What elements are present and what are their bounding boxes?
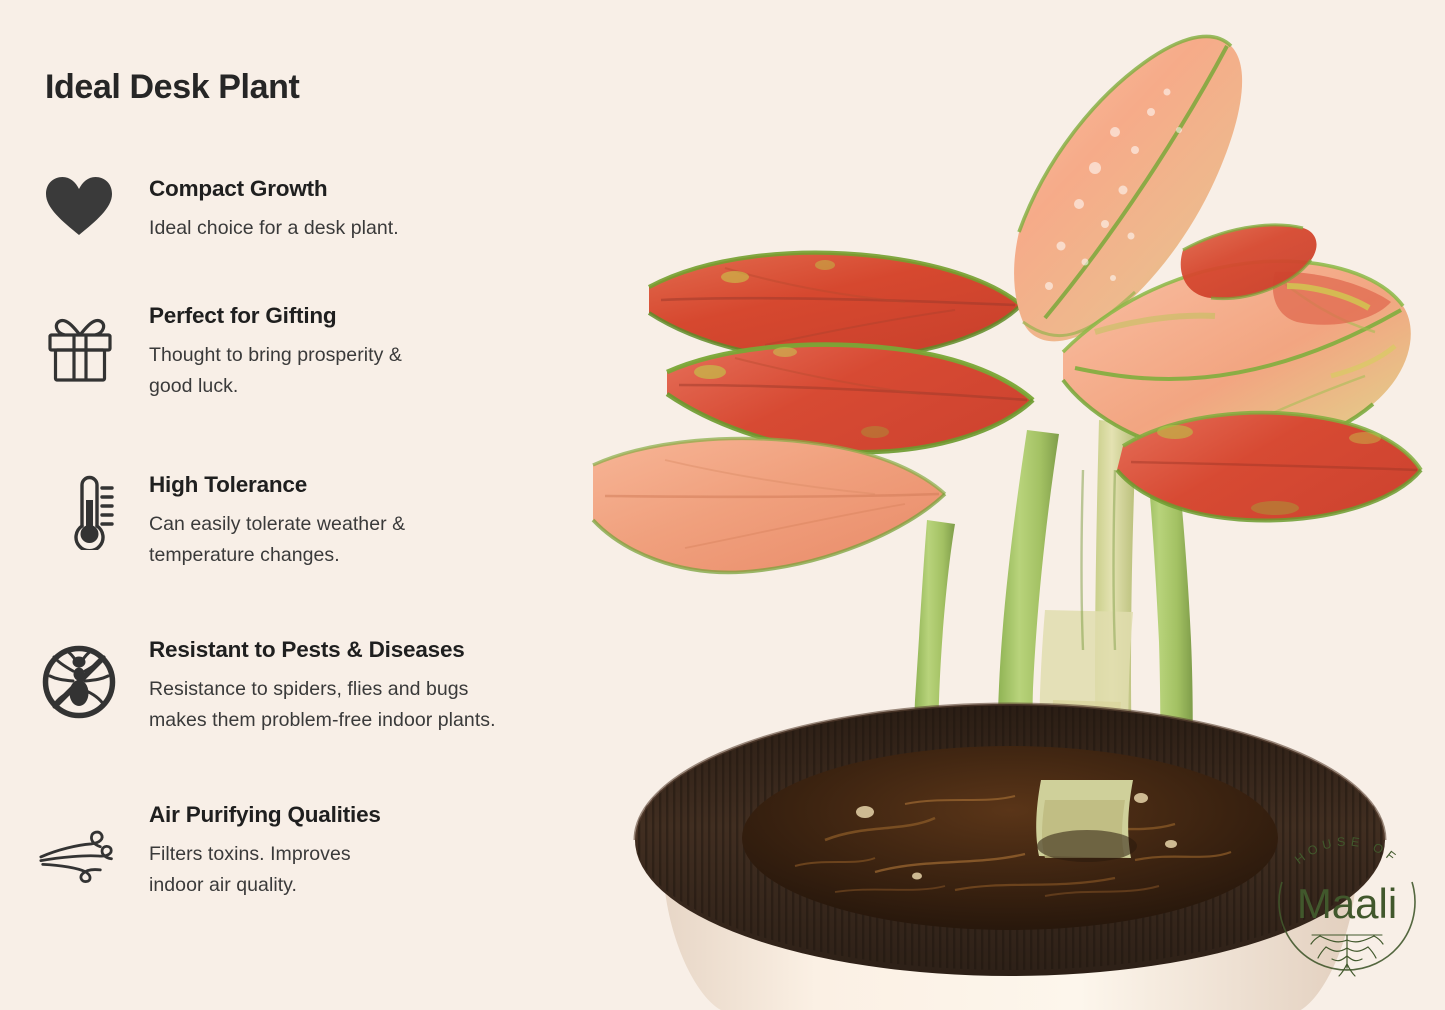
wind-icon: [39, 817, 117, 895]
feature-text-block: Compact Growth Ideal choice for a desk p…: [149, 177, 669, 244]
feature-title: Resistant to Pests & Diseases: [149, 638, 669, 663]
feature-title: Compact Growth: [149, 177, 669, 202]
feature-text-block: Resistant to Pests & Diseases Resistance…: [149, 638, 669, 737]
feature-title: Perfect for Gifting: [149, 304, 669, 329]
feature-description: Resistance to spiders, flies and bugs ma…: [149, 674, 669, 737]
product-feature-poster: Ideal Desk Plant Compact Growth Ideal ch…: [0, 0, 1445, 1010]
feature-description: Ideal choice for a desk plant.: [149, 213, 669, 245]
page-title: Ideal Desk Plant: [45, 68, 299, 107]
feature-title: Air Purifying Qualities: [149, 803, 669, 828]
feature-text-block: Perfect for Gifting Thought to bring pro…: [149, 304, 669, 403]
no-pests-icon: [40, 643, 118, 721]
gift-icon: [41, 310, 119, 388]
feature-description: Filters toxins. Improves indoor air qual…: [149, 839, 669, 902]
feature-description: Thought to bring prosperity & good luck.: [149, 340, 669, 403]
logo-wordmark: Maali: [1297, 880, 1397, 927]
heart-icon: [40, 167, 118, 245]
feature-title: High Tolerance: [149, 473, 669, 498]
feature-text-block: Air Purifying Qualities Filters toxins. …: [149, 803, 669, 902]
logo-arc-text: HOUSE OF: [1292, 835, 1402, 867]
brand-logo: HOUSE OF Maali: [1262, 808, 1432, 986]
thermometer-icon: [44, 473, 122, 551]
feature-text-block: High Tolerance Can easily tolerate weath…: [149, 473, 669, 572]
feature-description: Can easily tolerate weather & temperatur…: [149, 509, 669, 572]
features-panel: Ideal Desk Plant Compact Growth Ideal ch…: [0, 0, 680, 1010]
